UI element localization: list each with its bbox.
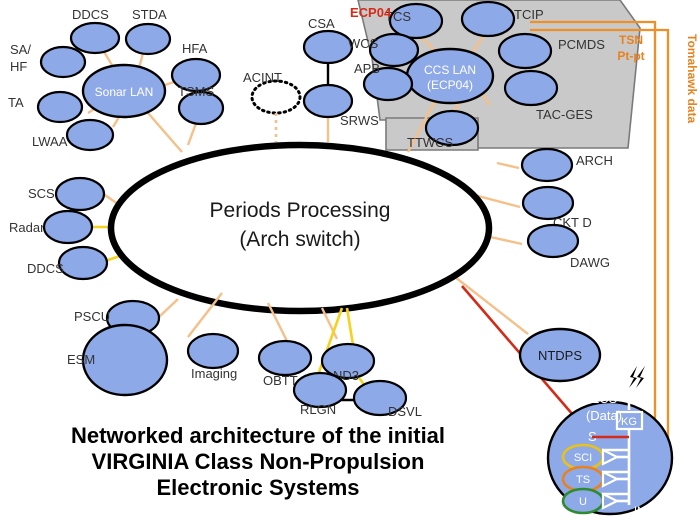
node-rlgn-label: RLGN: [300, 402, 336, 417]
sonar-lan-cluster: Sonar LAN SA/ HF TA LWAA DDCS STDA HFA T…: [8, 7, 223, 150]
node-ddcs-top[interactable]: [71, 23, 119, 53]
node-acint-label: ACINT: [243, 70, 282, 85]
node-arch[interactable]: [522, 149, 572, 181]
node-hfa-label: HFA: [182, 41, 208, 56]
node-tcip-label: TCIP: [514, 7, 544, 22]
node-stda[interactable]: [126, 24, 170, 54]
node-ttwcs-label: TTWCS: [407, 135, 454, 150]
node-tsms-label: TSMS: [178, 84, 214, 99]
node-pscu-label: PSCU: [74, 309, 110, 324]
node-obtt[interactable]: [259, 341, 311, 375]
node-imaging-label: Imaging: [191, 366, 237, 381]
architecture-diagram-canvas: Sonar LAN SA/ HF TA LWAA DDCS STDA HFA T…: [0, 0, 700, 520]
node-ddcs-left[interactable]: [59, 247, 107, 279]
node-ccs-lan-label-2: (ECP04): [427, 78, 473, 92]
node-pcmds-label: PCMDS: [558, 37, 605, 52]
node-sa-hf[interactable]: [41, 47, 85, 77]
diagram-root: Sonar LAN SA/ HF TA LWAA DDCS STDA HFA T…: [0, 0, 700, 520]
node-pcmds[interactable]: [499, 34, 551, 68]
node-csa[interactable]: [304, 31, 352, 63]
tsn-label-line2: Pt-pt: [617, 49, 644, 63]
node-ta-label: TA: [8, 95, 24, 110]
tomahawk-data-label: Tomahawk data: [685, 34, 699, 123]
tsn-label-line1: TSN: [619, 33, 643, 47]
node-obtt-label: OBTT: [263, 373, 298, 388]
ecs-label-line1: ECS: [591, 391, 618, 406]
node-csa-label: CSA: [308, 16, 335, 31]
ine-label: INE: [634, 505, 652, 517]
node-ntdps-label: NTDPS: [538, 348, 582, 363]
page-title-line3: Electronic Systems: [157, 475, 360, 500]
node-tac-ges[interactable]: [505, 71, 557, 105]
node-sonar-lan-label: Sonar LAN: [95, 85, 154, 99]
center-label-line2: (Arch switch): [239, 228, 360, 251]
acint-group: ACINT: [243, 70, 300, 142]
node-stda-label: STDA: [132, 7, 167, 22]
node-sa-hf-label-1: SA/: [10, 42, 31, 57]
sci-label: SCI: [574, 452, 592, 464]
node-apb-label: APB: [354, 61, 380, 76]
node-scs[interactable]: [56, 178, 104, 210]
node-ddcs-top-label: DDCS: [72, 7, 109, 22]
node-dsvl-label: DSVL: [388, 404, 422, 419]
node-radar[interactable]: [44, 211, 92, 243]
page-title-line2: VIRGINIA Class Non-Propulsion: [92, 449, 425, 474]
right-nodes: ARCH CKT D DAWG NTDPS: [520, 149, 613, 381]
node-esm[interactable]: [83, 325, 167, 395]
node-ddcs-left-label: DDCS: [27, 261, 64, 276]
bottom-nodes: PSCU ESM Imaging OBTT ND3 RLGN DSVL: [67, 301, 422, 419]
node-radar-label: Radar: [9, 220, 45, 235]
node-imaging[interactable]: [188, 334, 238, 368]
node-sa-hf-label-2: HF: [10, 59, 27, 74]
signal-bolt-icon-2: [636, 366, 645, 388]
antenna-icon: [620, 389, 638, 402]
node-ccs-lan-label-1: CCS LAN: [424, 63, 476, 77]
node-lwaa[interactable]: [67, 120, 113, 150]
page-title-line1: Networked architecture of the initial: [71, 423, 445, 448]
node-dawg-label: DAWG: [570, 255, 610, 270]
node-esm-label: ESM: [67, 352, 95, 367]
signal-bolt-icon-1: [629, 366, 637, 388]
u-label: U: [579, 496, 587, 508]
node-lwaa-label: LWAA: [32, 134, 68, 149]
node-acint[interactable]: [252, 81, 300, 113]
ts-label: TS: [576, 474, 590, 486]
left-nodes: SCS Radar DDCS: [9, 178, 107, 279]
kg-label: KG: [621, 416, 637, 428]
center-label-line1: Periods Processing: [210, 199, 391, 222]
node-srws-label: SRWS: [340, 113, 379, 128]
node-ta[interactable]: [38, 92, 82, 122]
node-arch-label: ARCH: [576, 153, 613, 168]
node-scs-label: SCS: [28, 186, 55, 201]
node-tac-ges-label: TAC-GES: [536, 107, 593, 122]
ecp04-panel-label: ECP04: [350, 5, 392, 20]
node-wcs-label: WCS: [348, 36, 379, 51]
ecs-group: ECS (Data) S KG INE SCI TS: [548, 366, 672, 517]
node-dawg[interactable]: [528, 225, 578, 257]
node-tcip[interactable]: [462, 2, 514, 36]
